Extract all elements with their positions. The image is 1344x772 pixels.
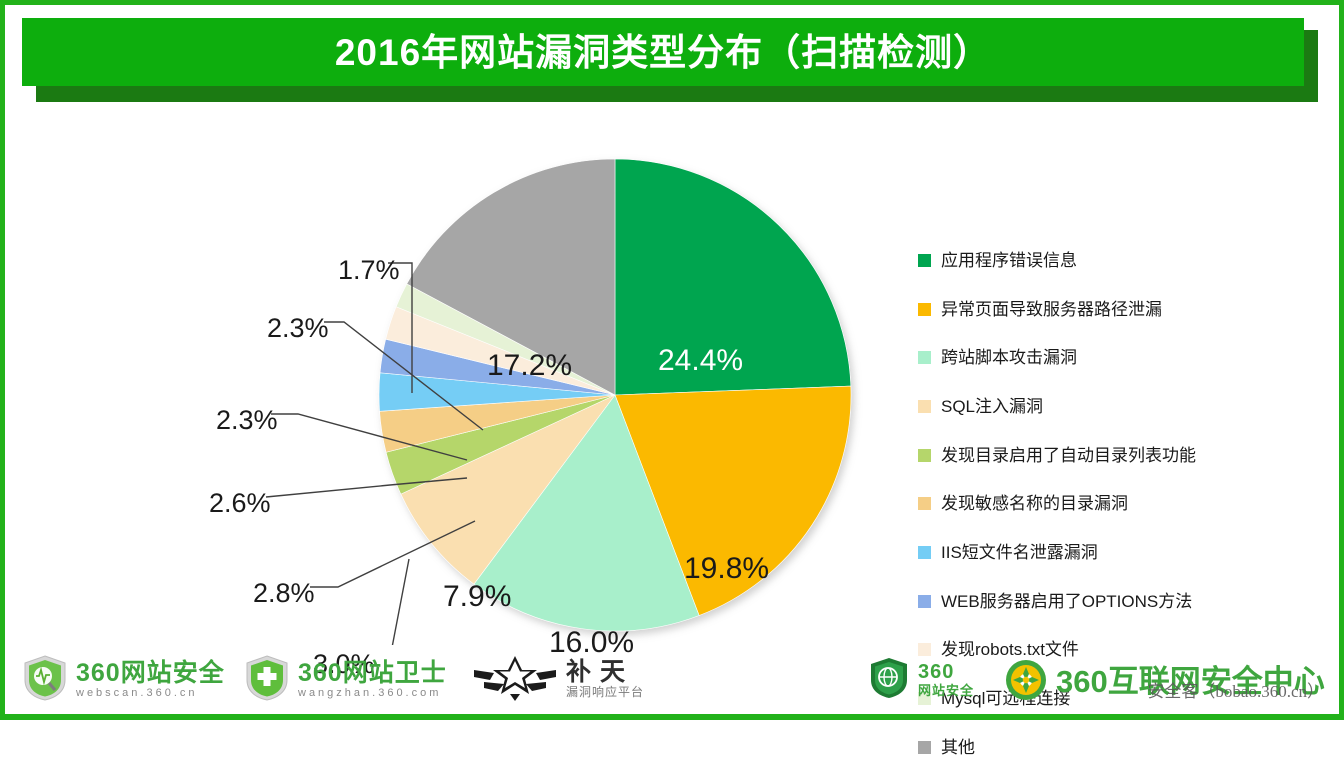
- shield-magnifier-icon: [22, 654, 68, 707]
- logo-360-webscan: 360网站安全 webscan.360.cn: [22, 654, 225, 707]
- logo-main-text: 补 天: [566, 659, 644, 685]
- legend-item[interactable]: SQL注入漏洞: [918, 382, 1318, 431]
- legend-item-label: 跨站脚本攻击漏洞: [941, 349, 1077, 366]
- pie-callout-percent: 2.3%: [267, 313, 329, 344]
- logo-text: 360网站卫士 wangzhan.360.com: [298, 660, 447, 701]
- pie-slices: [379, 159, 851, 631]
- legend-item-label: WEB服务器启用了OPTIONS方法: [941, 593, 1192, 610]
- page-title: 2016年网站漏洞类型分布（扫描检测）: [335, 34, 991, 71]
- legend-item-label: 发现敏感名称的目录漏洞: [941, 495, 1128, 512]
- logo-sub-text: 漏洞响应平台: [566, 685, 644, 701]
- watermark-text: 安全客（bobao.360.cn）: [1147, 677, 1324, 702]
- pie-slice-percent: 7.9%: [443, 580, 511, 614]
- logo-sub-text: webscan.360.cn: [76, 686, 225, 700]
- title-banner: 2016年网站漏洞类型分布（扫描检测）: [22, 18, 1318, 94]
- pie-chart: 24.4%19.8%16.0%7.9%17.2% 1.7%2.3%2.3%2.6…: [8, 100, 1336, 645]
- legend-swatch-icon: [918, 497, 931, 510]
- logo-main-text: 360: [918, 662, 974, 683]
- pie-slice-percent: 19.8%: [684, 552, 769, 586]
- pie-callout-percent: 1.7%: [338, 255, 400, 286]
- legend-item-label: 其他: [941, 739, 975, 756]
- logo-butian: 补 天 漏洞响应平台: [472, 652, 644, 707]
- legend-swatch-icon: [918, 546, 931, 559]
- legend-swatch-icon: [918, 595, 931, 608]
- logo-main-text: 360网站安全: [76, 660, 225, 686]
- legend-item[interactable]: 其他: [918, 723, 1318, 772]
- logo-main-text: 360网站卫士: [298, 660, 447, 686]
- laurel-badge-icon: [1004, 658, 1048, 707]
- legend-item[interactable]: 发现目录启用了自动目录列表功能: [918, 431, 1318, 480]
- legend-swatch-icon: [918, 351, 931, 364]
- logo-360-wangzhan: 360网站卫士 wangzhan.360.com: [244, 654, 447, 707]
- footer-logos: 360网站安全 webscan.360.cn 360网站卫士 wangzhan.…: [6, 642, 1338, 714]
- legend-item[interactable]: 异常页面导致服务器路径泄漏: [918, 285, 1318, 334]
- pie-slice-percent: 24.4%: [658, 344, 743, 378]
- pie-callout-percent: 2.3%: [216, 405, 278, 436]
- shield-plus-icon: [244, 654, 290, 707]
- legend-item[interactable]: WEB服务器启用了OPTIONS方法: [918, 577, 1318, 626]
- legend-item-label: IIS短文件名泄露漏洞: [941, 544, 1098, 561]
- title-banner-bar: 2016年网站漏洞类型分布（扫描检测）: [22, 18, 1304, 86]
- star-wings-icon: [472, 652, 558, 707]
- legend-item[interactable]: 跨站脚本攻击漏洞: [918, 333, 1318, 382]
- legend-swatch-icon: [918, 400, 931, 413]
- logo-text: 补 天 漏洞响应平台: [566, 659, 644, 701]
- shield-globe-icon: [868, 656, 910, 705]
- pie-callout-percent: 2.6%: [209, 488, 271, 519]
- legend-item[interactable]: 发现敏感名称的目录漏洞: [918, 479, 1318, 528]
- legend-swatch-icon: [918, 303, 931, 316]
- legend-swatch-icon: [918, 449, 931, 462]
- legend-item-label: 应用程序错误信息: [941, 252, 1077, 269]
- legend-item[interactable]: 应用程序错误信息: [918, 236, 1318, 285]
- logo-text: 360 网站安全: [918, 662, 974, 700]
- legend-item-label: 异常页面导致服务器路径泄漏: [941, 301, 1162, 318]
- legend-item-label: SQL注入漏洞: [941, 398, 1043, 415]
- pie-callout-percent: 2.8%: [253, 578, 315, 609]
- legend-item-label: 发现目录启用了自动目录列表功能: [941, 447, 1196, 464]
- legend-item[interactable]: IIS短文件名泄露漏洞: [918, 528, 1318, 577]
- logo-360-site-security: 360 网站安全: [868, 656, 974, 705]
- pie-slice-percent: 17.2%: [487, 349, 572, 383]
- legend-swatch-icon: [918, 254, 931, 267]
- logo-text: 360网站安全 webscan.360.cn: [76, 660, 225, 701]
- logo-sub-text: 网站安全: [918, 683, 974, 700]
- logo-sub-text: wangzhan.360.com: [298, 686, 447, 700]
- legend-swatch-icon: [918, 741, 931, 754]
